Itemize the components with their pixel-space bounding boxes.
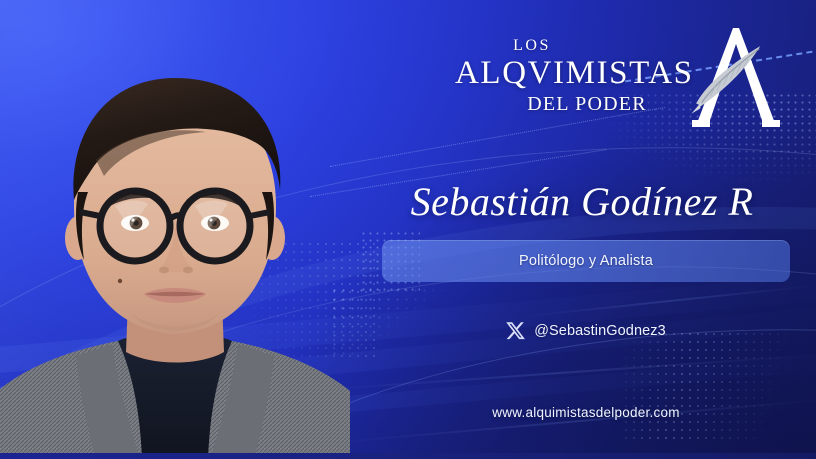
brand-logo-wordmark: LOS ALQVIMISTAS DEL PODER [455, 38, 661, 114]
letter-a-with-quill-feather-icon [676, 22, 796, 134]
broadcast-lower-third-card: LOS ALQVIMISTAS DEL PODER [0, 0, 816, 459]
guest-role-label: Politólogo y Analista [519, 253, 653, 269]
brand-logo-line-alqvimistas: ALQVIMISTAS [455, 57, 661, 90]
website-url[interactable]: www.alquimistasdelpoder.com [382, 405, 790, 420]
brand-logo-line-los: LOS [403, 38, 661, 54]
bottom-accent-strip [0, 453, 816, 459]
brand-logo: LOS ALQVIMISTAS DEL PODER [455, 24, 800, 136]
brand-logo-line-del-poder: DEL PODER [513, 94, 661, 114]
x-twitter-icon[interactable] [506, 321, 525, 340]
guest-name: Sebastián Godínez R [356, 178, 808, 225]
social-handle-row[interactable]: @SebastinGodnez3 [382, 321, 790, 340]
guest-role-bar: Politólogo y Analista [382, 240, 790, 282]
social-handle-text[interactable]: @SebastinGodnez3 [534, 323, 666, 339]
